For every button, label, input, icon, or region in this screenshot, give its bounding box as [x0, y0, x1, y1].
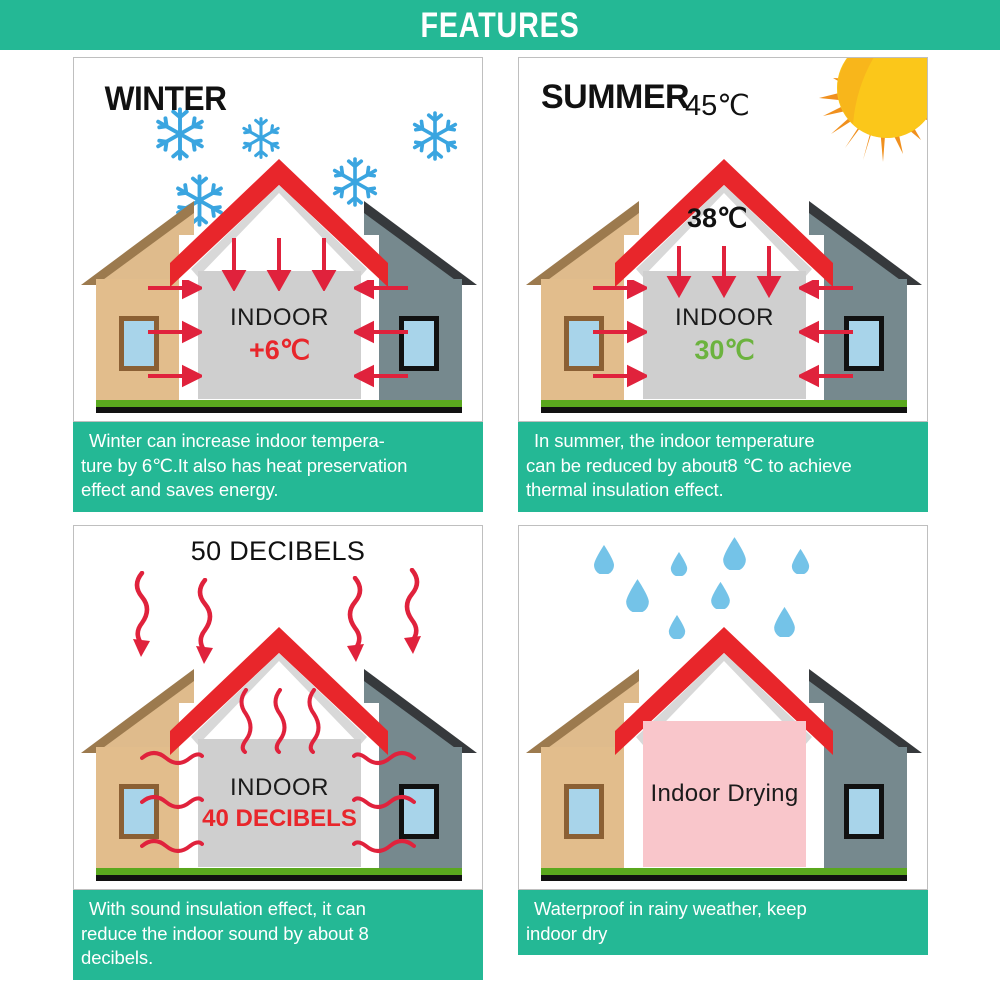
indoor-decibel-value: 40 DECIBELS [202, 805, 357, 833]
panel-waterproof: Indoor Drying Waterproof in rainy weathe… [518, 525, 928, 975]
page-title: FEATURES [420, 8, 579, 43]
caption-line: Winter can increase indoor tempera- [81, 429, 477, 454]
foundation-strip [541, 407, 907, 413]
indoor-label: INDOOR [230, 304, 329, 332]
season-title: SUMMER [541, 78, 689, 117]
sound-wave-icon [352, 748, 416, 858]
raindrop-icon [670, 551, 688, 576]
arrow-down-icon [214, 236, 344, 291]
indoor-label: INDOOR [675, 304, 774, 332]
caption-line: In summer, the indoor temperature [526, 429, 922, 454]
waterproof-illustration: Indoor Drying [518, 525, 928, 890]
caption-line: indoor dry [526, 922, 922, 947]
caption-line: ture by 6℃.It also has heat preservation [81, 454, 477, 479]
house-illustration: Indoor Drying [519, 581, 928, 881]
foundation-strip [541, 875, 907, 881]
raindrop-icon [791, 548, 810, 574]
arrow-down-icon [659, 244, 789, 299]
sound-illustration: 50 DECIBELS [73, 525, 483, 890]
arrow-inward-icon [354, 280, 410, 390]
caption-line: reduce the indoor sound by about 8 [81, 922, 477, 947]
raindrop-icon [593, 544, 615, 574]
panel-sound-insulation: 50 DECIBELS [73, 525, 483, 975]
indoor-room: INDOOR 40 DECIBELS [198, 739, 361, 867]
panel-caption: In summer, the indoor temperature can be… [518, 422, 928, 512]
indoor-label: INDOOR [230, 774, 329, 802]
panel-caption: Winter can increase indoor tempera- ture… [73, 422, 483, 512]
foundation-strip [96, 407, 462, 413]
panel-summer: SUMMER 45℃ [518, 57, 928, 507]
sound-wave-icon [140, 748, 204, 858]
summer-illustration: SUMMER 45℃ [518, 57, 928, 422]
foundation-strip [96, 875, 462, 881]
arrow-inward-icon [799, 280, 855, 390]
outdoor-decibel-value: 50 DECIBELS [74, 536, 482, 567]
raindrop-icon [722, 536, 747, 570]
sound-wave-icon [234, 688, 326, 754]
indoor-temperature-value: +6℃ [249, 335, 310, 366]
header-bar: FEATURES [0, 0, 1000, 50]
winter-illustration: WINTER [73, 57, 483, 422]
indoor-label: Indoor Drying [651, 780, 799, 808]
caption-line: Waterproof in rainy weather, keep [526, 897, 922, 922]
indoor-temperature-value: 30℃ [694, 335, 754, 366]
arrow-inward-icon [591, 280, 647, 390]
roof-temperature-value: 38℃ [687, 203, 747, 234]
indoor-room: Indoor Drying [643, 721, 806, 867]
right-house-window [844, 784, 884, 839]
caption-line: can be reduced by about8 ℃ to achieve [526, 454, 922, 479]
caption-line: effect and saves energy. [81, 478, 477, 503]
arrow-inward-icon [146, 280, 202, 390]
caption-line: thermal insulation effect. [526, 478, 922, 503]
infographic-page: FEATURES [0, 0, 1000, 1000]
left-house-window [564, 784, 604, 839]
caption-line: With sound insulation effect, it can [81, 897, 477, 922]
caption-line: decibels. [81, 946, 477, 971]
feature-panel-grid: WINTER [73, 57, 928, 975]
panel-caption: With sound insulation effect, it can red… [73, 890, 483, 980]
panel-caption: Waterproof in rainy weather, keep indoor… [518, 890, 928, 955]
panel-winter: WINTER [73, 57, 483, 507]
